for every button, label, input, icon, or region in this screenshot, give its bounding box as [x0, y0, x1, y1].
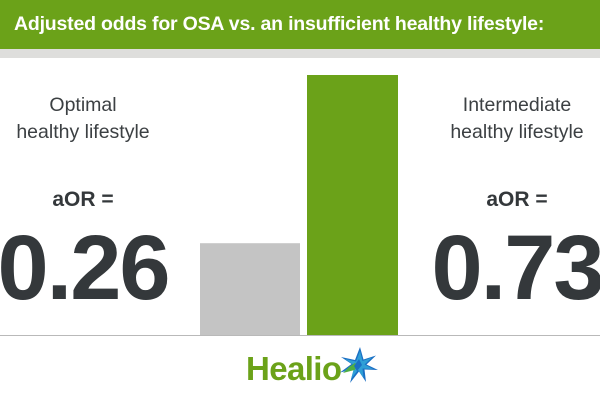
- panel-intermediate-label: Intermediate healthy lifestyle: [402, 92, 600, 146]
- panel-optimal-label-line1: Optimal: [49, 94, 116, 116]
- panel-optimal: Optimal healthy lifestyle aOR = 0.26: [0, 58, 198, 341]
- page-title: Adjusted odds for OSA vs. an insufficien…: [14, 11, 544, 37]
- infographic-root: Adjusted odds for OSA vs. an insufficien…: [0, 0, 600, 400]
- panel-optimal-label-line2: healthy lifestyle: [0, 119, 198, 146]
- panel-optimal-label: Optimal healthy lifestyle: [0, 92, 198, 146]
- bar-optimal: [200, 243, 300, 335]
- chart-plate: Optimal healthy lifestyle aOR = 0.26 Int…: [0, 58, 600, 341]
- healio-logo: Healio: [246, 347, 371, 393]
- panel-optimal-aor-label: aOR =: [0, 188, 198, 212]
- panel-intermediate-label-line2: healthy lifestyle: [402, 119, 600, 146]
- panel-optimal-value: 0.26: [0, 213, 198, 323]
- header-bar: Adjusted odds for OSA vs. an insufficien…: [0, 0, 600, 49]
- bar-intermediate: [307, 75, 398, 335]
- header-divider: [0, 49, 600, 58]
- panel-intermediate-value: 0.73: [402, 213, 600, 323]
- footer: Healio: [0, 341, 600, 400]
- panel-intermediate-label-line1: Intermediate: [463, 94, 571, 116]
- panel-intermediate: Intermediate healthy lifestyle aOR = 0.7…: [402, 58, 600, 341]
- healio-wordmark: Healio: [246, 350, 341, 388]
- panel-intermediate-aor-label: aOR =: [402, 188, 600, 212]
- healio-star-icon: [335, 345, 379, 385]
